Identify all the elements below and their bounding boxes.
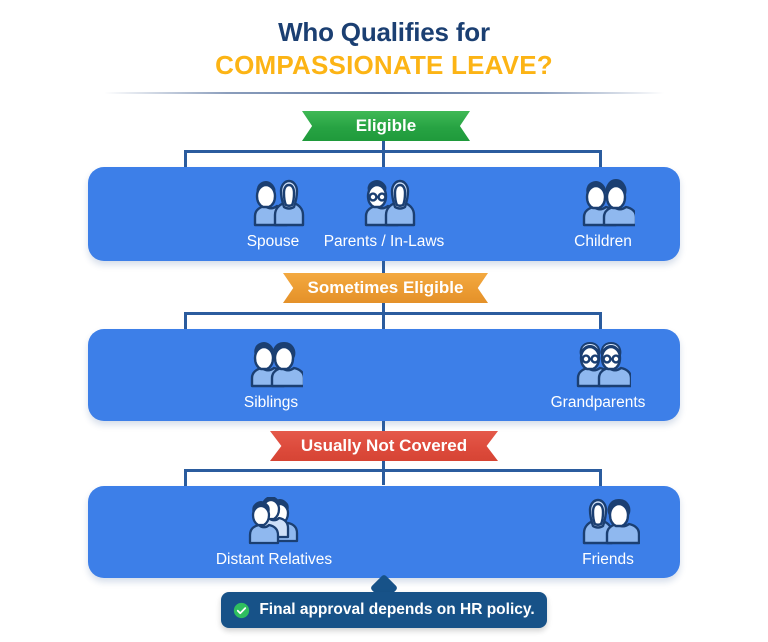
group-three-icon xyxy=(239,495,309,545)
parents-icon xyxy=(352,177,416,227)
children-icon xyxy=(571,177,635,227)
friends-icon xyxy=(576,495,640,545)
item-parents-label: Parents / In-Laws xyxy=(324,233,445,251)
item-siblings[interactable]: Siblings xyxy=(196,329,346,421)
title-line-2: COMPASSIONATE LEAVE? xyxy=(0,48,768,82)
footer-note-text: Final approval depends on HR policy. xyxy=(259,601,534,619)
footer-note: Final approval depends on HR policy. xyxy=(221,592,547,628)
infographic-canvas: Who Qualifies for COMPASSIONATE LEAVE? E… xyxy=(0,0,768,642)
title-line-1: Who Qualifies for xyxy=(0,16,768,48)
item-children[interactable]: Children xyxy=(528,167,678,261)
banner-eligible-label: Eligible xyxy=(356,116,416,135)
banner-usually-not-covered: Usually Not Covered xyxy=(270,431,498,461)
connector-stem-2-top xyxy=(382,261,385,275)
page-title: Who Qualifies for COMPASSIONATE LEAVE? xyxy=(0,16,768,82)
connector-stem-1 xyxy=(382,141,385,167)
connector-stem-2 xyxy=(382,303,385,329)
connector-bar-1 xyxy=(184,150,602,153)
couple-icon xyxy=(241,177,305,227)
banner-usually-not-covered-label: Usually Not Covered xyxy=(301,436,467,455)
connector-stem-3 xyxy=(382,461,385,485)
connector-bar-3 xyxy=(184,469,602,472)
item-distant-relatives[interactable]: Distant Relatives xyxy=(186,486,362,578)
banner-sometimes-eligible-label: Sometimes Eligible xyxy=(308,278,464,297)
item-grandparents-label: Grandparents xyxy=(551,394,646,412)
panel-usually-not-covered: Distant Relatives Friends xyxy=(88,486,680,578)
item-distant-relatives-label: Distant Relatives xyxy=(216,551,332,569)
panel-sometimes-eligible: Siblings xyxy=(88,329,680,421)
item-siblings-label: Siblings xyxy=(244,394,298,412)
banner-eligible: Eligible xyxy=(302,111,470,141)
item-spouse-label: Spouse xyxy=(247,233,300,251)
siblings-icon xyxy=(239,338,303,388)
item-friends-label: Friends xyxy=(582,551,634,569)
grandparents-icon xyxy=(565,338,631,388)
connector-bar-2 xyxy=(184,312,602,315)
item-friends[interactable]: Friends xyxy=(533,486,683,578)
item-parents[interactable]: Parents / In-Laws xyxy=(309,167,459,261)
panel-eligible: Spouse xyxy=(88,167,680,261)
item-children-label: Children xyxy=(574,233,632,251)
item-grandparents[interactable]: Grandparents xyxy=(518,329,678,421)
banner-sometimes-eligible: Sometimes Eligible xyxy=(283,273,488,303)
title-divider xyxy=(104,92,664,94)
check-circle-icon xyxy=(233,602,250,619)
